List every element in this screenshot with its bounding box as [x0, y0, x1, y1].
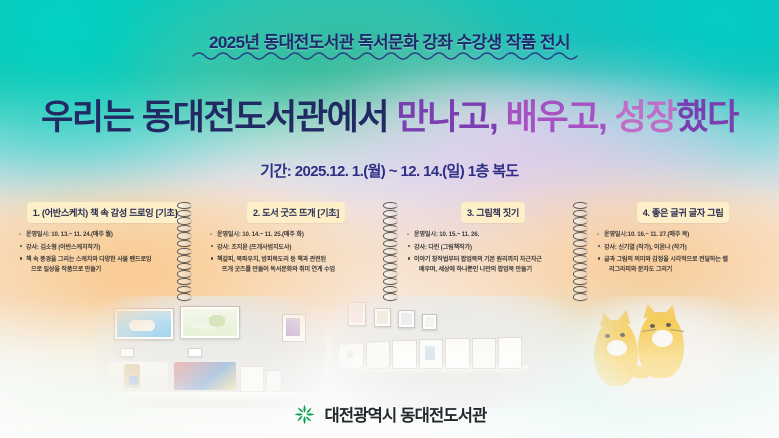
- spiral-ring: [383, 286, 398, 293]
- spiral-binding-1: [176, 202, 192, 304]
- spiral-ring: [573, 248, 588, 255]
- bullet-marker-icon: [211, 245, 213, 247]
- spiral-ring: [383, 217, 398, 224]
- spiral-ring: [573, 293, 588, 300]
- spiral-ring: [573, 240, 588, 247]
- dash-marker-icon: -: [210, 230, 212, 239]
- spiral-ring: [383, 278, 398, 285]
- spiral-ring: [573, 270, 588, 277]
- main-title-part2: 만나고,: [397, 98, 506, 137]
- course-card-4-line-2: 강사: 신기열 (작가), 이윤나 (작가): [597, 243, 770, 252]
- course-card-1-line-3: 책 속 풍경을 그리는 스케치와 다양한 사물 펜드로잉으로 일상을 작품으로 …: [19, 255, 192, 274]
- course-card-2-body: -운영일시: 10. 14.~ 11. 25.(매주 화) 강사: 조지윤 (뜨…: [205, 230, 387, 274]
- spiral-ring: [383, 255, 398, 262]
- course-card-4-body: -운영일시:10. 16.~ 11. 27.(매주 목) 강사: 신기열 (작가…: [592, 230, 774, 274]
- bullet-marker-icon: [211, 257, 213, 259]
- course-card-3: 3. 그림책 짓기 -운영일시: 10. 15.~ 11. 26. 강사: 다린…: [402, 198, 584, 306]
- exhibition-poster: 2025년 동대전도서관 독서문화 강좌 수강생 작품 전시 우리는 동대전도서…: [0, 0, 779, 438]
- course-card-1-title: 1. (어반스케치) 책 속 감성 드로잉 [기초]: [27, 202, 183, 223]
- course-card-2-line-1: -운영일시: 10. 14.~ 11. 25.(매주 화): [210, 230, 383, 239]
- spiral-ring: [573, 286, 588, 293]
- main-title-part5: 했다: [676, 98, 738, 137]
- main-title-part1: 우리는 동대전도서관에서: [41, 98, 396, 137]
- spiral-ring: [177, 263, 192, 270]
- spiral-ring: [177, 240, 192, 247]
- course-card-2: 2. 도서 굿즈 뜨개 [기초] -운영일시: 10. 14.~ 11. 25.…: [205, 198, 387, 306]
- spiral-ring: [383, 225, 398, 232]
- course-card-2-line-3: 책갈피, 북파우치, 방피목도리 등 책과 관련된뜨개 굿즈를 만들어 독서문화…: [210, 255, 383, 274]
- course-card-4: 4. 좋은 글귀 글자 그림 -운영일시:10. 16.~ 11. 27.(매주…: [592, 198, 774, 306]
- spiral-ring: [573, 202, 588, 209]
- course-card-4-title: 4. 좋은 글귀 글자 그림: [637, 202, 730, 223]
- spiral-ring: [383, 270, 398, 277]
- spiral-ring: [177, 232, 192, 239]
- course-card-4-line-1: -운영일시:10. 16.~ 11. 27.(매주 목): [597, 230, 770, 239]
- spiral-ring: [177, 293, 192, 300]
- bullet-marker-icon: [408, 257, 410, 259]
- spiral-ring: [383, 240, 398, 247]
- spiral-binding-2: [382, 202, 398, 304]
- course-card-4-line-3: 글과 그림의 의미와 감정을 시각적으로 전달하는 캘리그라피와 문자도 그리기: [597, 255, 770, 274]
- spiral-ring: [177, 270, 192, 277]
- wave-underline-icon: [191, 49, 589, 63]
- spiral-ring: [383, 293, 398, 300]
- spiral-ring: [383, 210, 398, 217]
- bullet-marker-icon: [598, 257, 600, 259]
- main-title-part4: 성장: [615, 98, 677, 137]
- spiral-ring: [383, 263, 398, 270]
- exhibition-period: 기간: 2025.12. 1.(월) ~ 12. 14.(일) 1층 복도: [0, 160, 779, 181]
- daejeon-pinwheel-logo-icon: [293, 403, 316, 426]
- dash-marker-icon: -: [597, 230, 599, 239]
- dash-marker-icon: -: [19, 230, 21, 239]
- spiral-ring: [383, 202, 398, 209]
- main-title-part3: 배우고,: [506, 98, 615, 137]
- course-card-3-title: 3. 그림책 짓기: [461, 202, 525, 223]
- spiral-ring: [383, 232, 398, 239]
- course-card-3-body: -운영일시: 10. 15.~ 11. 26. 강사: 다린 (그림책작가) 이…: [402, 230, 584, 274]
- dash-marker-icon: -: [407, 230, 409, 239]
- bullet-marker-icon: [20, 257, 22, 259]
- spiral-ring: [177, 202, 192, 209]
- footer-organization-name: 대전광역시 동대전도서관: [325, 402, 487, 426]
- spiral-ring: [177, 217, 192, 224]
- spiral-ring: [177, 286, 192, 293]
- main-title: 우리는 동대전도서관에서 만나고, 배우고, 성장했다: [0, 98, 779, 137]
- course-card-1-line-2: 강사: 김소형 (어반스케치작가): [19, 243, 192, 252]
- spiral-ring: [573, 263, 588, 270]
- spiral-ring: [573, 278, 588, 285]
- spiral-ring: [573, 217, 588, 224]
- bullet-marker-icon: [408, 245, 410, 247]
- spiral-ring: [177, 255, 192, 262]
- poster-footer: 대전광역시 동대전도서관: [0, 402, 779, 426]
- spiral-ring: [177, 248, 192, 255]
- course-card-3-line-1: -운영일시: 10. 15.~ 11. 26.: [407, 230, 580, 239]
- course-card-3-line-3: 이야기 창작법부터 팝업북의 기본 원리까지 차근차근배우며, 세상에 하나뿐인…: [407, 255, 580, 274]
- bullet-marker-icon: [20, 245, 22, 247]
- course-card-2-line-2: 강사: 조지윤 (뜨개사범지도사): [210, 243, 383, 252]
- spiral-ring: [177, 210, 192, 217]
- spiral-ring: [573, 225, 588, 232]
- spiral-ring: [573, 210, 588, 217]
- course-card-1: 1. (어반스케치) 책 속 감성 드로잉 [기초] -운영일시: 10. 13…: [14, 198, 196, 306]
- course-card-list: 1. (어반스케치) 책 속 감성 드로잉 [기초] -운영일시: 10. 13…: [0, 198, 779, 308]
- course-card-1-line-1: -운영일시: 10. 13.~ 11. 24.(매주 월): [19, 230, 192, 239]
- spiral-ring: [573, 232, 588, 239]
- spiral-ring: [177, 278, 192, 285]
- spiral-ring: [177, 225, 192, 232]
- spiral-ring: [573, 255, 588, 262]
- course-card-2-title: 2. 도서 굿즈 뜨개 [기초]: [247, 202, 345, 223]
- course-card-3-line-2: 강사: 다린 (그림책작가): [407, 243, 580, 252]
- spiral-ring: [383, 248, 398, 255]
- course-card-1-body: -운영일시: 10. 13.~ 11. 24.(매주 월) 강사: 김소형 (어…: [14, 230, 196, 274]
- spiral-binding-3: [572, 202, 588, 304]
- bullet-marker-icon: [598, 245, 600, 247]
